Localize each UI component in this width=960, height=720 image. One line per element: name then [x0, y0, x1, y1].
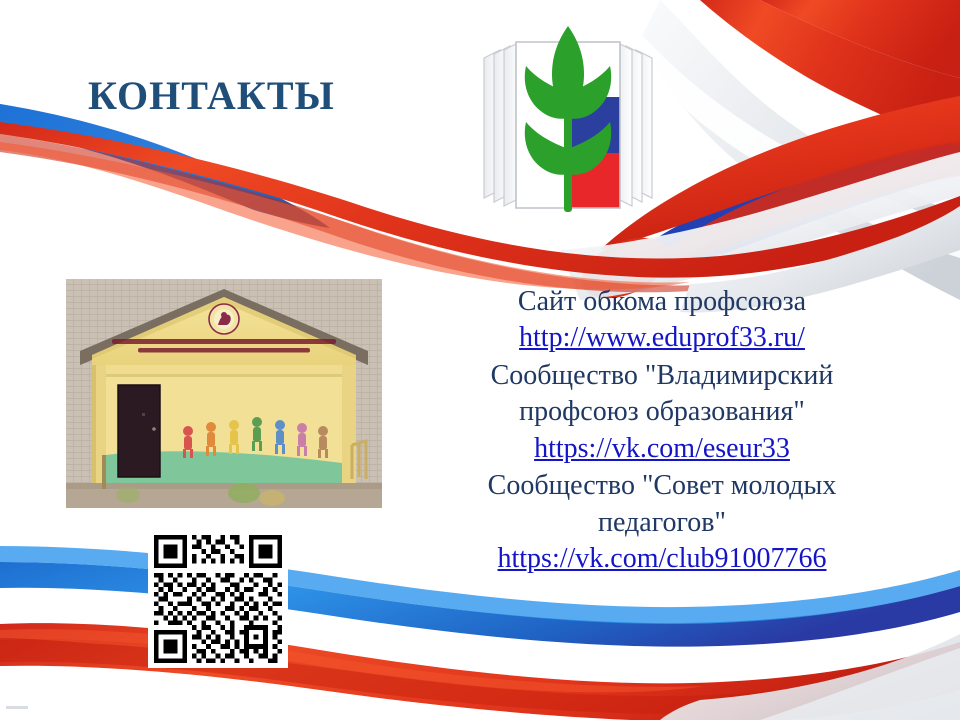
- contact-label-vk-community-1-a: Сообщество "Владимирский: [412, 360, 912, 392]
- contact-label-site: Сайт обкома профсоюза: [412, 286, 912, 318]
- slide-root: КОНТАКТЫ: [0, 0, 960, 720]
- contact-label-vk-community-2-b: педагогов": [412, 507, 912, 539]
- link-vk-eseur33[interactable]: https://vk.com/eseur33: [412, 433, 912, 465]
- contact-label-vk-community-1-b: профсоюз образования": [412, 396, 912, 428]
- contacts-block: Сайт обкома профсоюза http://www.eduprof…: [412, 286, 912, 581]
- page-title: КОНТАКТЫ: [88, 72, 335, 119]
- contact-label-vk-community-2-a: Сообщество "Совет молодых: [412, 470, 912, 502]
- book-right-pages: [616, 42, 652, 206]
- book-left-pages: [484, 42, 520, 206]
- building-photo: [66, 279, 382, 508]
- qr-code[interactable]: [148, 530, 288, 668]
- union-logo: [478, 22, 658, 212]
- link-vk-club91007766[interactable]: https://vk.com/club91007766: [412, 543, 912, 575]
- building-emblem-icon: [209, 304, 239, 334]
- link-eduprof33[interactable]: http://www.eduprof33.ru/: [412, 322, 912, 354]
